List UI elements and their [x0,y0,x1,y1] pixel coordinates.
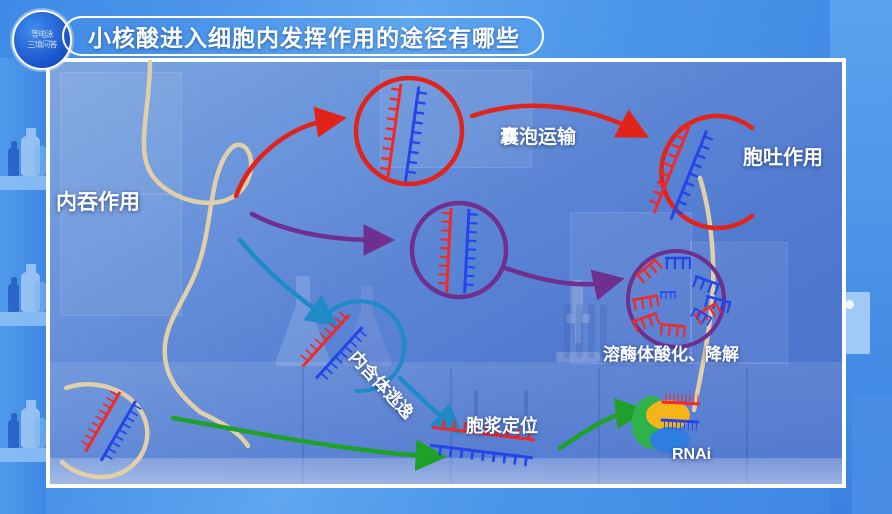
label-rnai: RNAi [672,446,711,464]
screenshot-stage: 内吞作用 囊泡运输 胞吐作用 溶酶体酸化、降解 内含体逃逸 胞浆定位 RNAi … [0,0,892,514]
label-vesicle-transport: 囊泡运输 [500,122,576,149]
door-knob-icon [845,300,854,309]
right-wall-base [852,394,892,514]
shelf-board [0,312,46,326]
label-exocytosis: 胞吐作用 [743,141,823,170]
shelf-bottle [8,420,19,448]
back-cabinet [60,72,182,194]
shelf-board [0,176,46,190]
label-cytoplasmic-localization: 胞浆定位 [466,412,538,438]
badge-line-2: 三填问答 [27,40,56,50]
panel-floor-strip [50,458,842,484]
shelf-jar-small [34,282,46,312]
header-bar: 等电泳 三填问答 小核酸进入细胞内发挥作用的途径有哪些 [0,0,892,58]
left-shelf-unit [0,58,46,514]
badge-text: 等电泳 三填问答 [27,30,56,50]
label-lysosome-degradation: 溶酶体酸化、降解 [603,340,739,365]
title-pill: 小核酸进入细胞内发挥作用的途径有哪些 [62,16,544,56]
diagram-panel [46,58,846,488]
shelf-board [0,448,46,462]
shelf-jar-small [34,418,46,448]
shelf-bottle [8,284,19,312]
page-title: 小核酸进入细胞内发挥作用的途径有哪些 [88,19,520,53]
shelf-jar-small [34,146,46,176]
back-cabinet [380,70,532,168]
badge-line-1: 等电泳 [27,30,56,40]
label-endocytosis: 内吞作用 [56,186,140,216]
shelf-bottle [8,148,19,176]
flask-icon [268,272,338,368]
